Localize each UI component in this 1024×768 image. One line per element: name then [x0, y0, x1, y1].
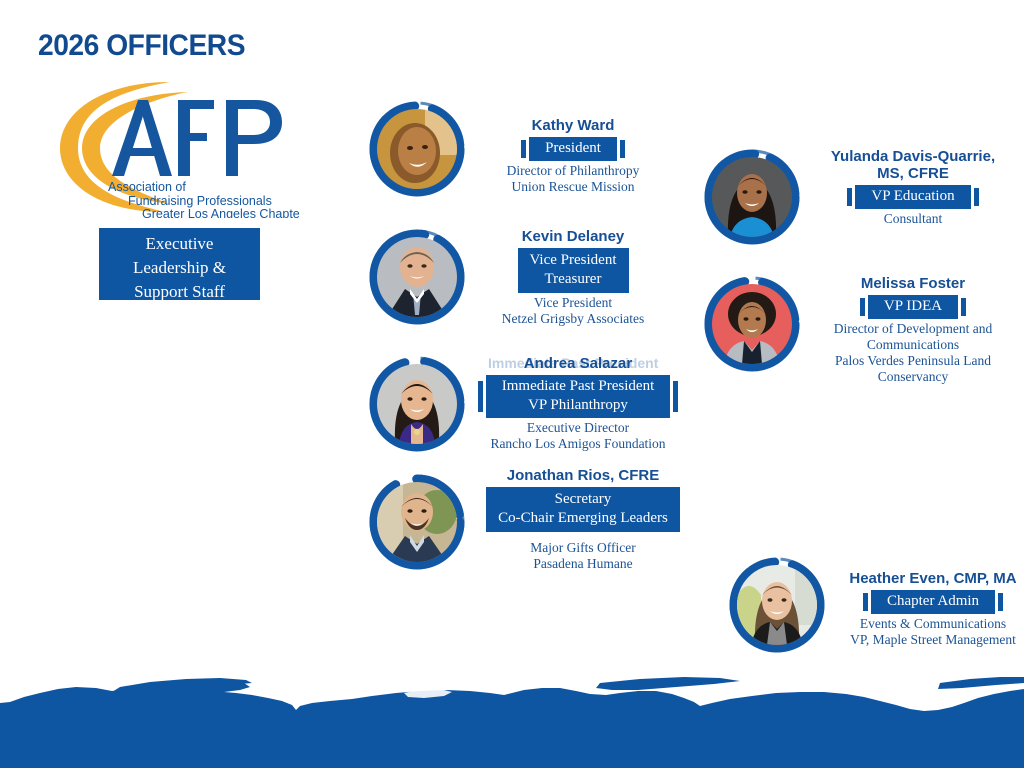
role-line-2: VP Philanthropy	[502, 396, 654, 415]
role-badge: Immediate Past President VP Philanthropy	[486, 375, 670, 418]
unit-badge-line-1: Executive	[99, 232, 260, 256]
person-text: Heather Even, CMP, MA Chapter Admin Even…	[838, 570, 1024, 648]
role-line-1: Secretary	[498, 490, 668, 509]
unit-badge-line-3: Support Staff	[99, 280, 260, 304]
role-badge: VP IDEA	[868, 295, 958, 319]
person-text: Melissa Foster VP IDEA Director of Devel…	[813, 275, 1013, 385]
role-badge: Secretary Co-Chair Emerging Leaders	[486, 487, 680, 532]
person-name: Melissa Foster	[813, 275, 1013, 292]
avatar	[703, 275, 801, 373]
kevin-delaney-photo	[377, 237, 457, 317]
person-text: Kevin Delaney Vice President Treasurer V…	[478, 228, 668, 327]
bottom-brush-band	[0, 663, 1024, 768]
person-org: Consultant	[813, 211, 1013, 227]
person-org: Director of Development and Communicatio…	[813, 321, 1013, 385]
role-badge: Vice President Treasurer	[518, 248, 629, 293]
unit-badge: Executive Leadership & Support Staff	[99, 228, 260, 300]
logo-line-1: Association of	[108, 180, 186, 194]
avatar	[728, 556, 826, 654]
role-badge: President	[529, 137, 617, 161]
role-line-1: Immediate Past President	[502, 377, 654, 396]
person-name: Kathy Ward	[478, 117, 668, 134]
heather-even-photo	[737, 565, 817, 645]
avatar	[703, 148, 801, 246]
yulanda-davis-quarrie-photo	[712, 157, 792, 237]
avatar	[368, 473, 466, 571]
page-title: 2026 OFFICERS	[38, 29, 245, 63]
person-name: Kevin Delaney	[478, 228, 668, 245]
officers-slide: 2026 OFFICERS Association of	[0, 0, 1024, 768]
andrea-salazar-photo	[377, 364, 457, 444]
avatar	[368, 100, 466, 198]
logo-line-2: Fundraising Professionals	[128, 194, 272, 208]
role-line-2: Co-Chair Emerging Leaders	[498, 509, 668, 528]
person-text: Yulanda Davis-Quarrie, MS, CFRE VP Educa…	[813, 148, 1013, 227]
role-badge: Chapter Admin	[871, 590, 995, 614]
person-name: Yulanda Davis-Quarrie, MS, CFRE	[813, 148, 1013, 182]
person-text: Jonathan Rios, CFRE Secretary Co-Chair E…	[478, 467, 688, 572]
kathy-ward-photo	[377, 109, 457, 189]
unit-badge-line-2: Leadership &	[99, 256, 260, 280]
person-org: Major Gifts Officer Pasadena Humane	[478, 540, 688, 572]
logo-line-3: Greater Los Angeles Chapter	[142, 207, 300, 218]
melissa-foster-photo	[712, 284, 792, 364]
role-line-1: Vice President	[530, 251, 617, 270]
role-line-2: Treasurer	[530, 270, 617, 289]
person-name: Andrea Salazar	[478, 355, 678, 372]
avatar	[368, 228, 466, 326]
person-name: Jonathan Rios, CFRE	[478, 467, 688, 484]
person-org: Events & Communications VP, Maple Street…	[838, 616, 1024, 648]
afp-logo: Association of Fundraising Professionals…	[50, 78, 300, 218]
role-badge: VP Education	[855, 185, 970, 209]
afp-logo-graphic: Association of Fundraising Professionals…	[50, 78, 300, 218]
person-text: Kathy Ward President Director of Philant…	[478, 117, 668, 195]
person-org: Director of Philanthropy Union Rescue Mi…	[478, 163, 668, 195]
person-text: Andrea Salazar Immediate Past President …	[478, 355, 678, 452]
person-org: Vice President Netzel Grigsby Associates	[478, 295, 668, 327]
person-name: Heather Even, CMP, MA	[838, 570, 1024, 587]
person-org: Executive Director Rancho Los Amigos Fou…	[478, 420, 678, 452]
jonathan-rios-photo	[377, 482, 457, 562]
avatar	[368, 355, 466, 453]
